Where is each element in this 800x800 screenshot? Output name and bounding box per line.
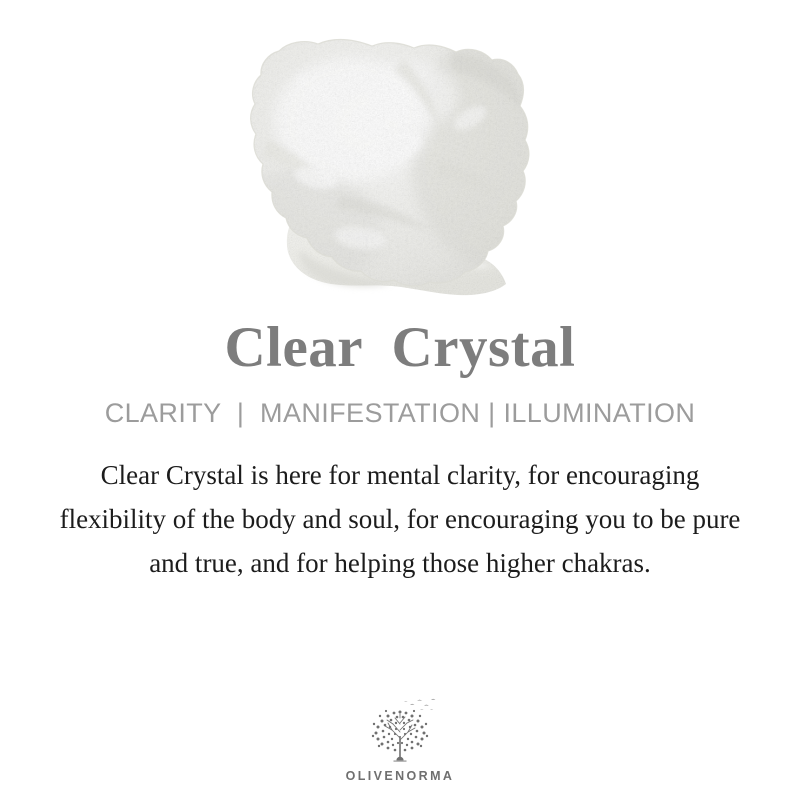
product-card: Clear Crystal CLARITY | MANIFESTATION | …: [0, 0, 800, 800]
keyword-subtitle: CLARITY | MANIFESTATION | ILLUMINATION: [105, 400, 696, 427]
brand-name: OLIVENORMA: [346, 770, 455, 783]
brand-logo: OLIVENORMA: [0, 696, 800, 783]
tree-of-life-icon: [352, 696, 448, 768]
page-title: Clear Crystal: [224, 316, 575, 378]
clear-quartz-crystal-icon: [0, 0, 800, 316]
crystal-body: [220, 30, 590, 300]
product-description: Clear Crystal is here for mental clarity…: [50, 453, 750, 585]
birds-icon: [404, 698, 435, 709]
product-image-area: [0, 0, 800, 316]
